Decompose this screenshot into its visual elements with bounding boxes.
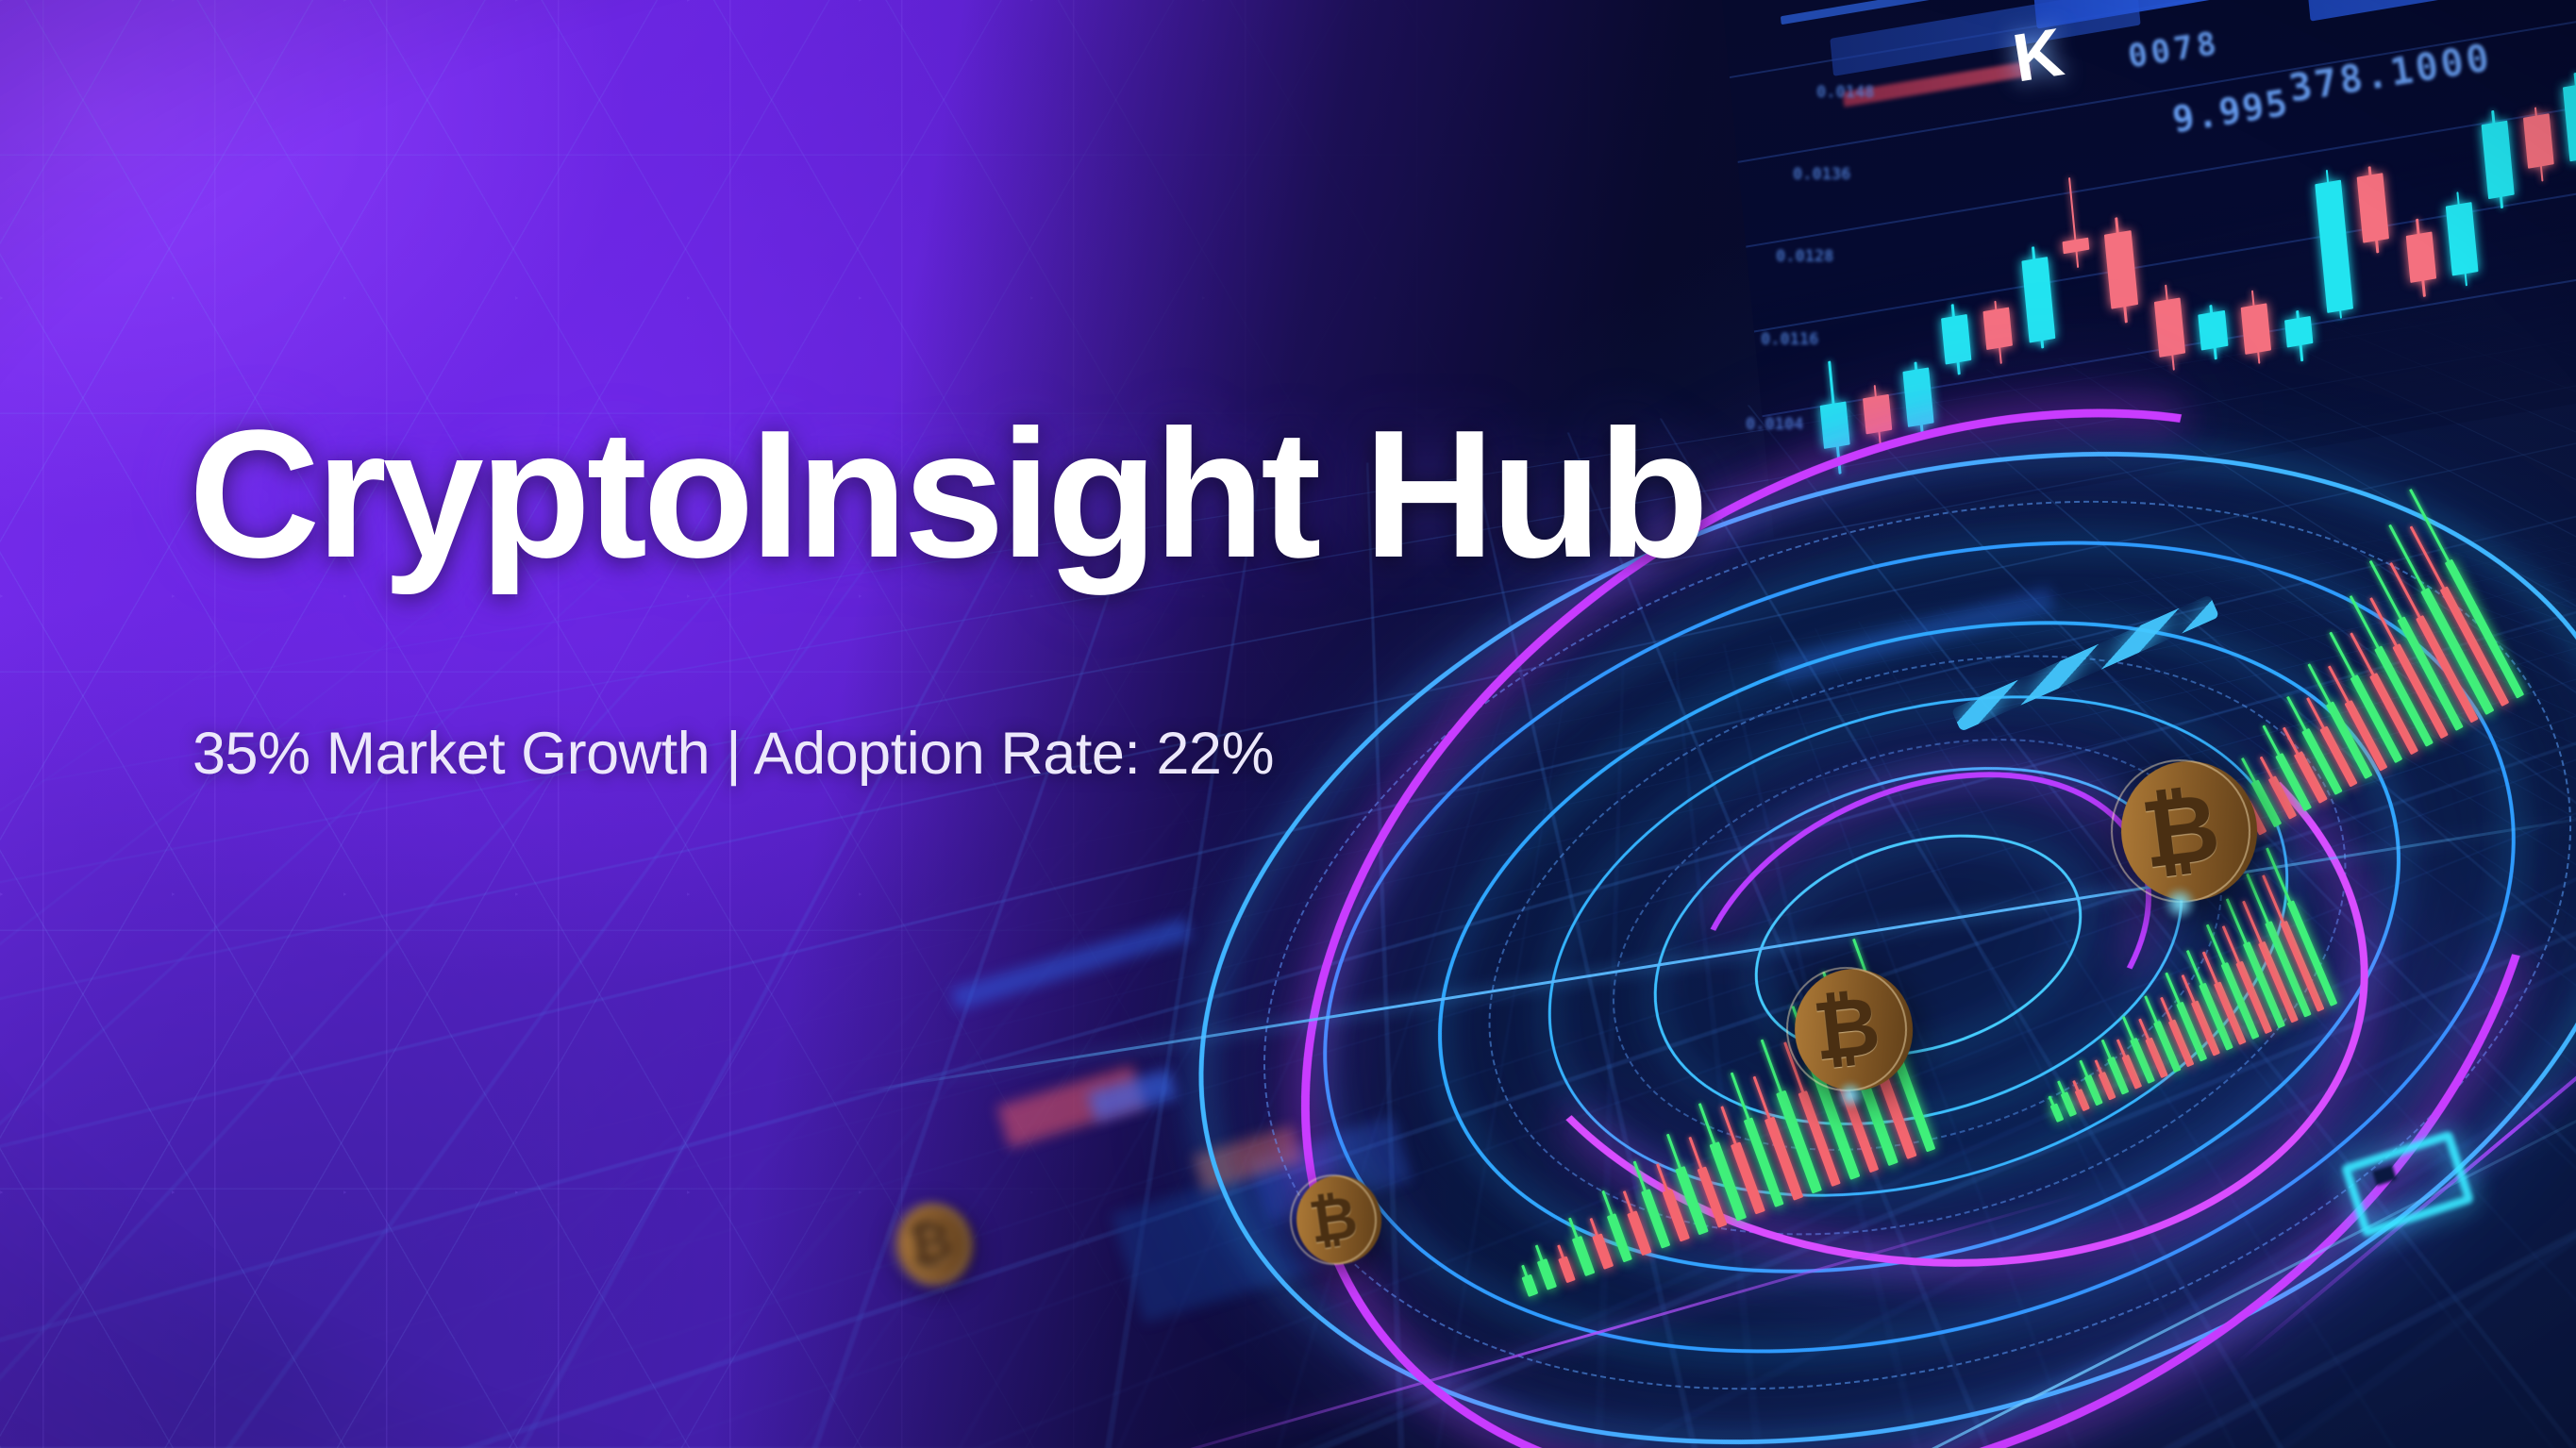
crypto-insight-hub-banner: 0.0148 0.0136 0.0128 0.0116 0.0104 K 007… [0,0,2576,1448]
vignette-overlay [0,0,2576,1448]
